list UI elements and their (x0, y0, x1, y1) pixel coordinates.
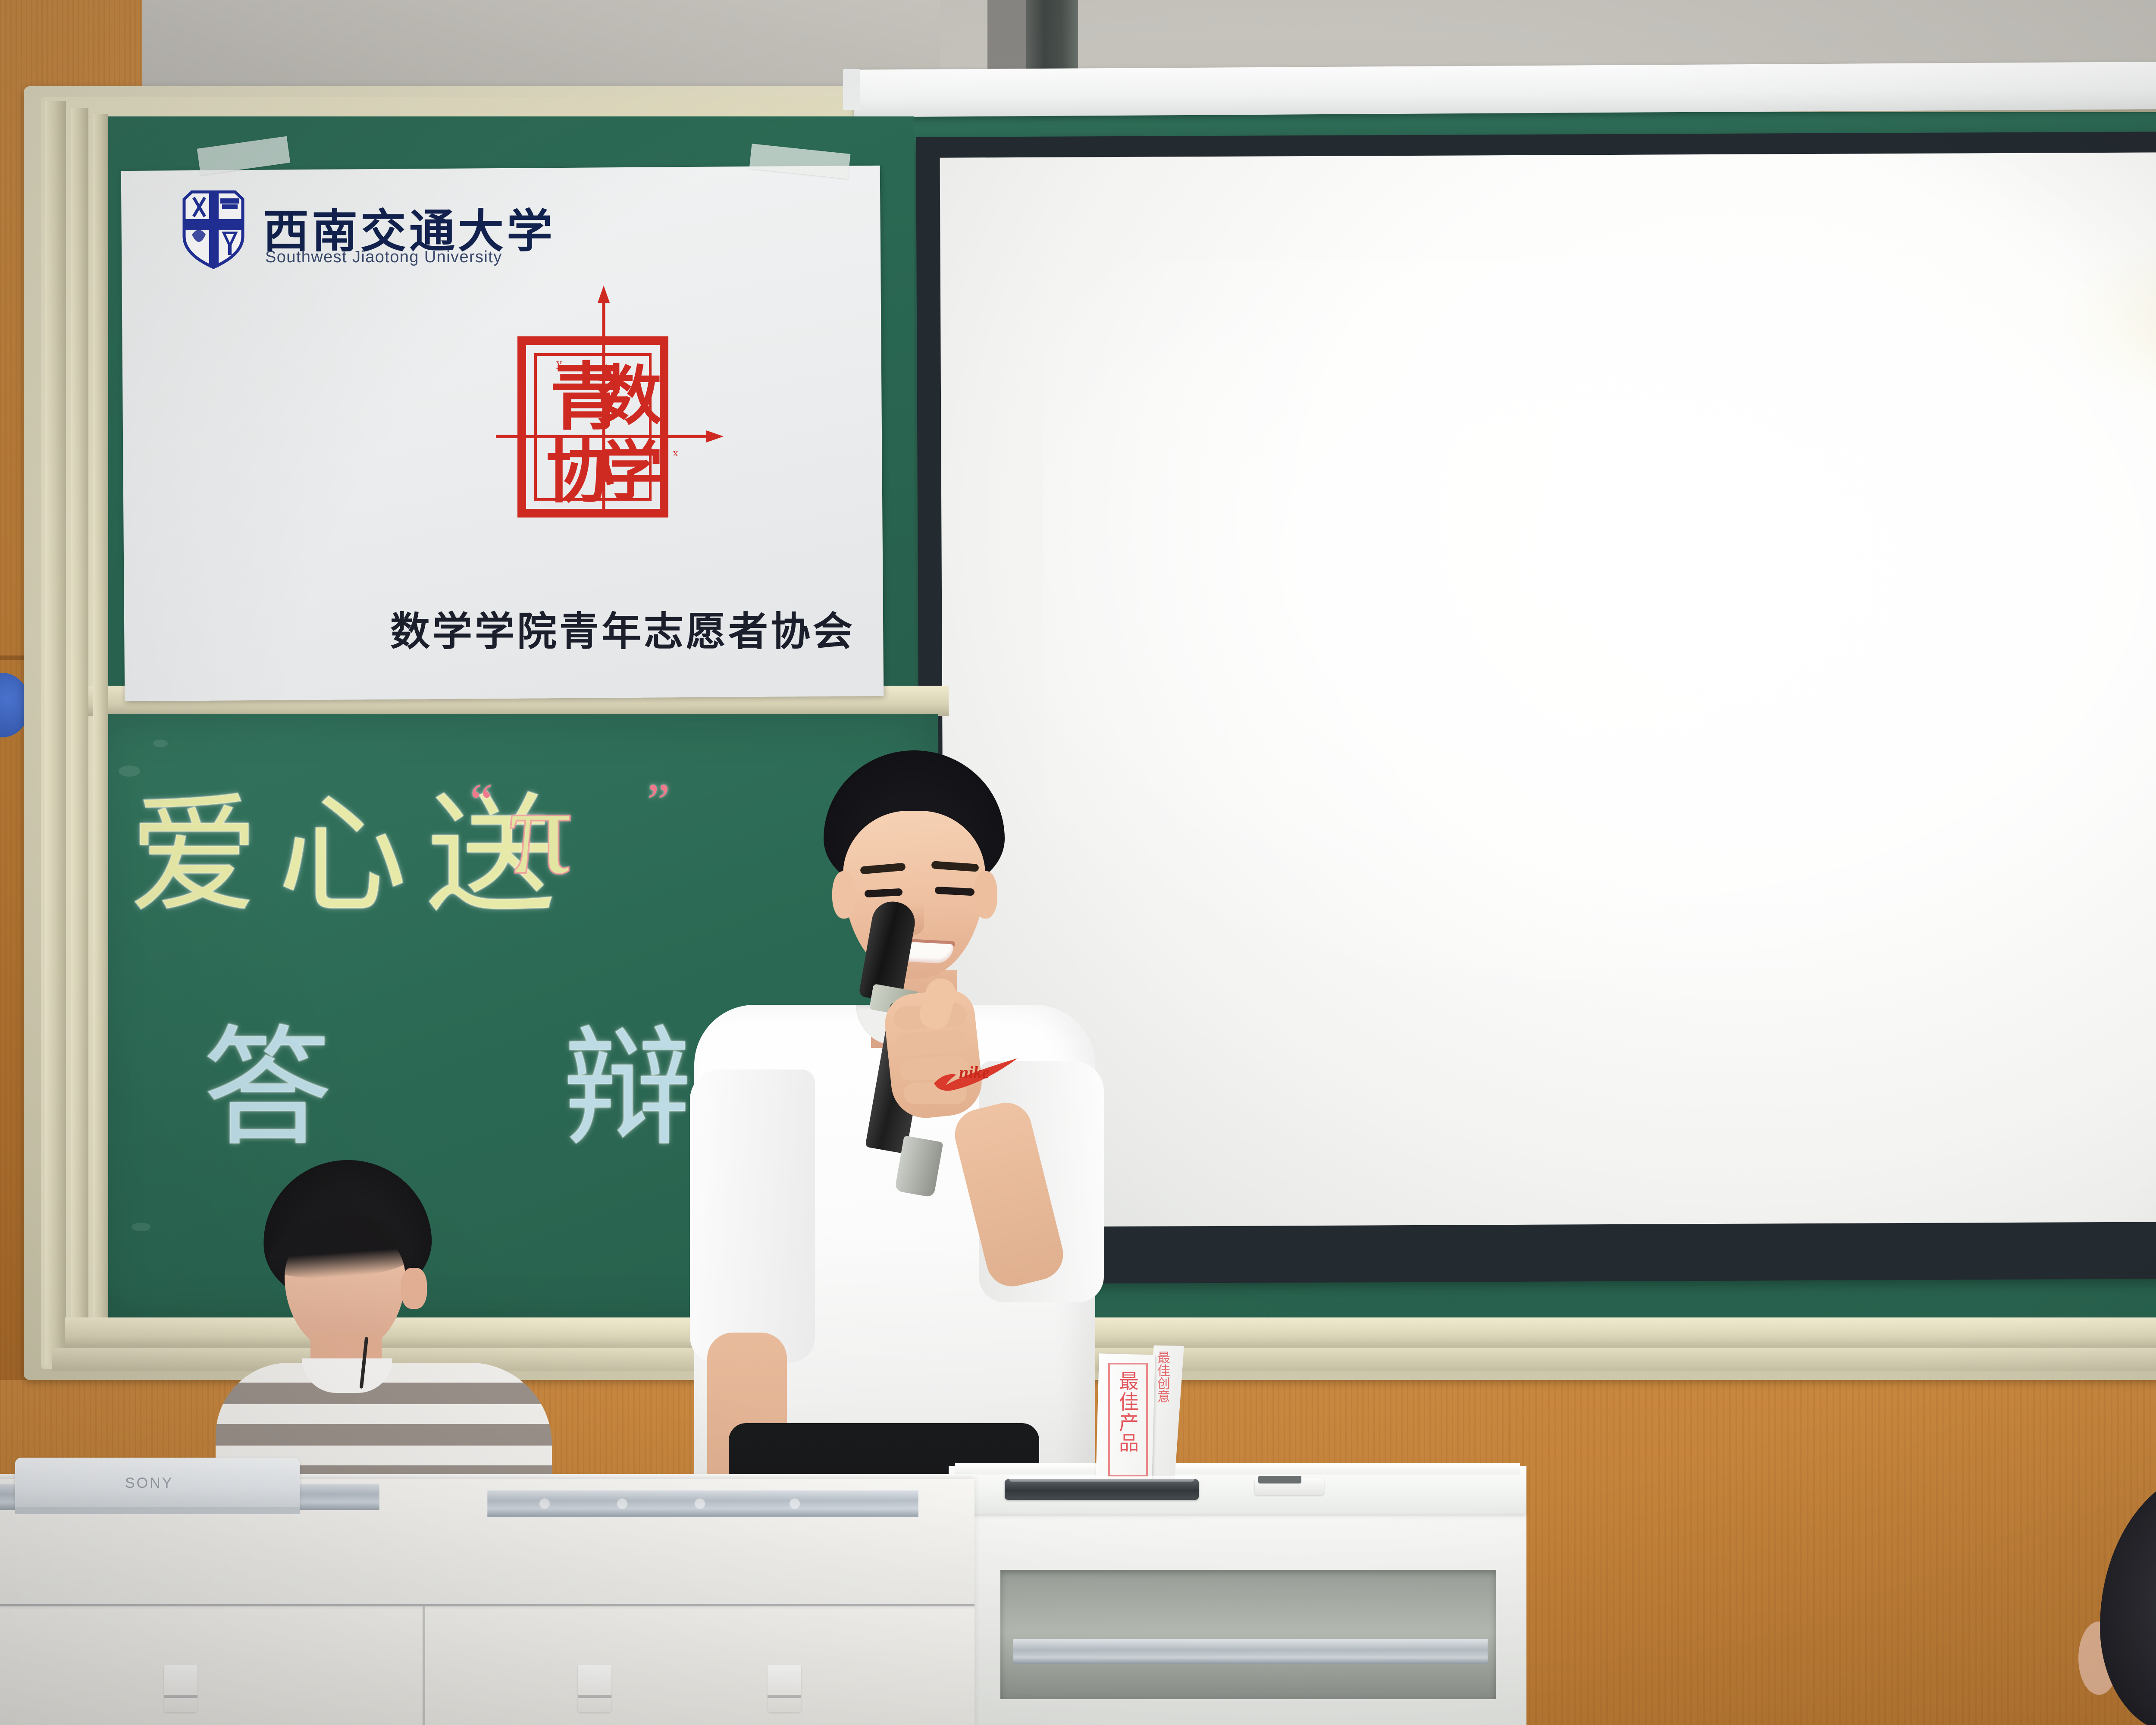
projector-warm-glow (2048, 241, 2156, 423)
desk-knob-3[interactable] (768, 1665, 801, 1712)
desk-knob-2[interactable] (578, 1665, 611, 1712)
red-square-seal-icon: y x 青 数 协 学 (487, 276, 729, 517)
lectern-slide-rail (1013, 1639, 1488, 1664)
lectern-surface (955, 1463, 1520, 1474)
lectern-shelf (1000, 1570, 1496, 1699)
svg-text:nike: nike (959, 1063, 990, 1082)
chalkboard-headline: 爱心送 (129, 750, 574, 938)
university-crest-icon (179, 190, 248, 270)
smartphone-highlight (1009, 1476, 1194, 1482)
desk-panel-seam (0, 1604, 975, 1606)
presenter-ear-right (974, 871, 997, 919)
chalk-quote-open: “ (470, 772, 493, 831)
board-rail-left-1 (45, 101, 66, 1365)
university-name-en: Southwest Jiaotong University (265, 248, 502, 267)
organization-title: 数学学院青年志愿者协会 (390, 599, 855, 657)
projector-hotspot (1042, 256, 2156, 1016)
desk-slide-rail-right (487, 1490, 918, 1517)
chalk-quote-close: ” (647, 772, 670, 831)
tent-card-text: 最佳产品 (1116, 1371, 1142, 1454)
projection-screen-roller-case (854, 60, 2156, 117)
desk-knob-line-3 (768, 1695, 801, 1698)
roller-end-cap-left (843, 69, 860, 110)
desk-knob-1[interactable] (164, 1665, 197, 1712)
laptop-brand-label: SONY (125, 1475, 173, 1492)
nike-swoosh-logo: nike (931, 1057, 1022, 1094)
desk-knob-line-2 (578, 1695, 611, 1698)
judge-ear (401, 1268, 427, 1309)
presentation-clicker-button[interactable] (1258, 1476, 1301, 1483)
chalk-pi-symbol: π (509, 759, 572, 903)
board-rail-left-3 (93, 114, 108, 1356)
presenter-sleeve-left (690, 1069, 815, 1363)
judging-desk-front-panel (0, 1609, 975, 1725)
desk-knob-line-1 (164, 1695, 197, 1698)
laptop-hinge (15, 1507, 300, 1514)
presenter-finger-2 (896, 1030, 968, 1056)
classroom-scene: olldes 爱心送 “ π ” 答 辩 西南交通大学 Southwest Ji… (0, 0, 2156, 1725)
tent-card-back-text: 最佳创意 (1154, 1352, 1174, 1404)
svg-text:x: x (673, 446, 678, 459)
desk-drawer-seam (423, 1606, 425, 1725)
board-rail-left-2 (71, 108, 88, 1358)
svg-text:学: 学 (599, 436, 663, 508)
svg-text:数: 数 (597, 361, 662, 433)
presenter-ear-left (832, 871, 856, 919)
smartphone[interactable] (1005, 1479, 1199, 1500)
